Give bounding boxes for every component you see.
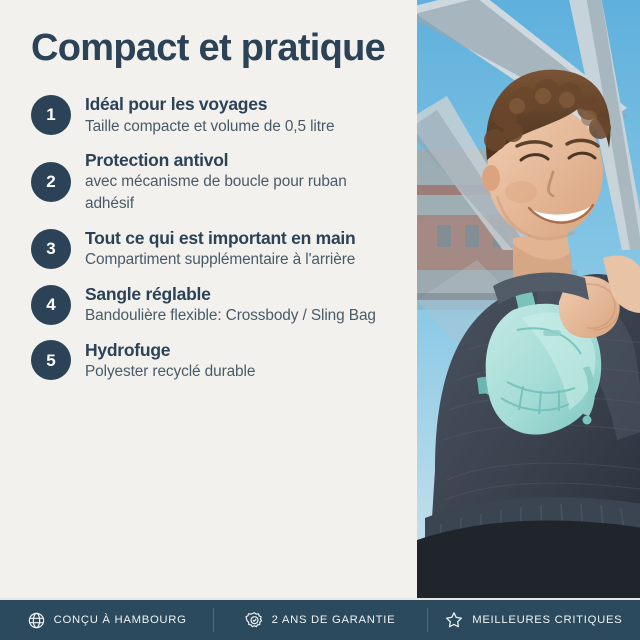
feature-number-badge: 4 — [31, 285, 71, 325]
feature-text: Tout ce qui est important en main Compar… — [85, 226, 399, 271]
product-lifestyle-photo — [417, 0, 640, 598]
guarantee-seal-icon — [245, 611, 264, 630]
feature-title: Tout ce qui est important en main — [85, 227, 399, 249]
feature-subtitle: Polyester recyclé durable — [85, 361, 399, 383]
feature-title: Protection antivol — [85, 149, 399, 171]
feature-number-badge: 1 — [31, 95, 71, 135]
list-item: 3 Tout ce qui est important en main Comp… — [31, 226, 399, 271]
feature-title: Sangle réglable — [85, 283, 399, 305]
feature-subtitle: Bandoulière flexible: Crossbody / Sling … — [85, 305, 399, 327]
feature-title: Idéal pour les voyages — [85, 93, 399, 115]
trust-badge-label: CONÇU À HAMBOURG — [54, 614, 187, 626]
trust-badge-warranty: 2 ANS DE GARANTIE — [213, 599, 426, 640]
globe-icon — [27, 611, 46, 630]
feature-text: Hydrofuge Polyester recyclé durable — [85, 338, 399, 383]
features-panel: Compact et pratique 1 Idéal pour les voy… — [0, 0, 417, 598]
feature-text: Idéal pour les voyages Taille compacte e… — [85, 92, 399, 137]
trust-badge-label: 2 ANS DE GARANTIE — [272, 614, 396, 626]
feature-text: Sangle réglable Bandoulière flexible: Cr… — [85, 282, 399, 327]
trust-badge-best-reviews: MEILLEURES CRITIQUES — [427, 599, 640, 640]
trust-badge-designed-in-hamburg: CONÇU À HAMBOURG — [0, 599, 213, 640]
list-item: 4 Sangle réglable Bandoulière flexible: … — [31, 282, 399, 327]
feature-number-badge: 3 — [31, 229, 71, 269]
trust-badge-label: MEILLEURES CRITIQUES — [472, 614, 622, 626]
trust-badge-bar: CONÇU À HAMBOURG 2 ANS DE GARANTIE MEILL… — [0, 598, 640, 640]
feature-list: 1 Idéal pour les voyages Taille compacte… — [31, 92, 399, 382]
feature-subtitle: avec mécanisme de boucle pour ruban adhé… — [85, 171, 399, 215]
feature-subtitle: Taille compacte et volume de 0,5 litre — [85, 116, 399, 138]
list-item: 1 Idéal pour les voyages Taille compacte… — [31, 92, 399, 137]
feature-title: Hydrofuge — [85, 339, 399, 361]
feature-number-badge: 2 — [31, 162, 71, 202]
page-title: Compact et pratique — [31, 26, 399, 70]
feature-text: Protection antivol avec mécanisme de bou… — [85, 148, 399, 215]
star-icon — [444, 610, 464, 630]
list-item: 2 Protection antivol avec mécanisme de b… — [31, 148, 399, 215]
product-feature-card: Compact et pratique 1 Idéal pour les voy… — [0, 0, 640, 640]
feature-number-badge: 5 — [31, 340, 71, 380]
list-item: 5 Hydrofuge Polyester recyclé durable — [31, 338, 399, 383]
feature-subtitle: Compartiment supplémentaire à l'arrière — [85, 249, 399, 271]
